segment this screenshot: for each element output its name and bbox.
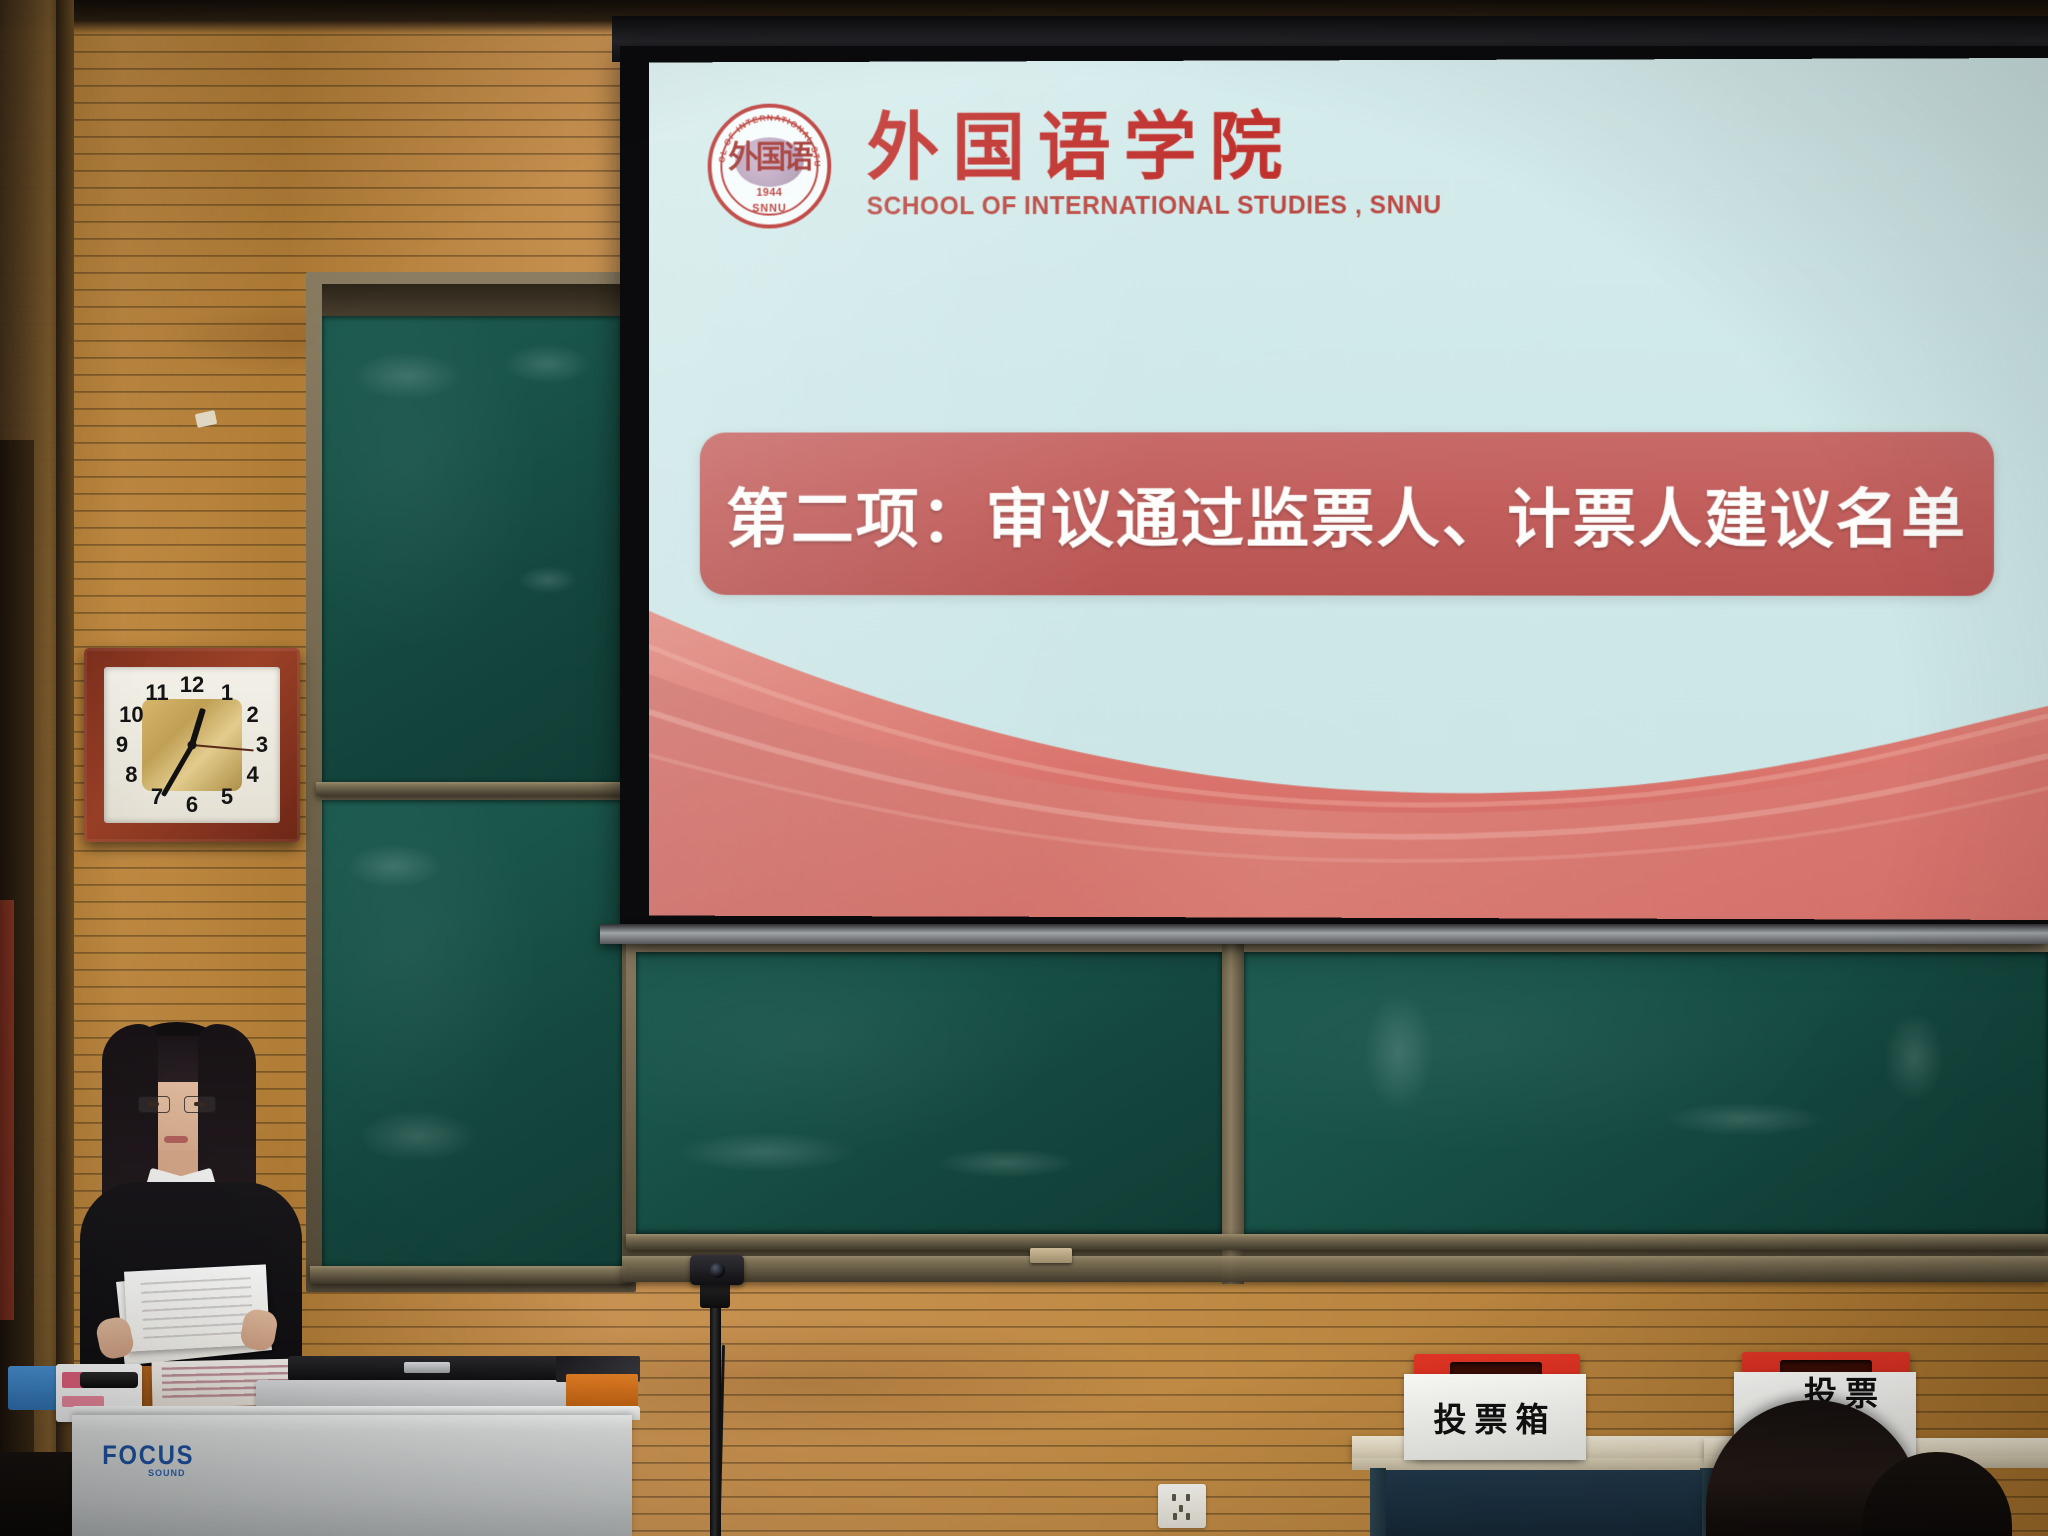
clock-numeral-10: 10 [119, 704, 143, 726]
chalkboard-panel-main-2 [1244, 952, 2048, 1234]
clock-numeral-11: 11 [145, 682, 168, 704]
crest-glyph: 外国语 [708, 131, 832, 176]
ballot-table-1-leg-left [1370, 1468, 1386, 1536]
tripod-head [700, 1282, 730, 1308]
clock-numeral-5: 5 [221, 786, 233, 808]
institution-title-cn: 外国语学院 [867, 109, 1442, 187]
chalkboard-panel-main-1 [636, 952, 1222, 1234]
clock-numeral-2: 2 [246, 704, 258, 726]
school-crest-icon: SCHOOL OF INTERNATIONAL STUDIES 外国语 1944… [708, 103, 832, 228]
presenter-glasses [138, 1096, 216, 1113]
clock-numeral-12: 12 [180, 674, 204, 696]
video-camera [690, 1255, 744, 1285]
chalkboard-ledge-bottom-left [310, 1266, 634, 1284]
classroom-scene: 121234567891011 [0, 0, 2048, 1536]
presenter-mouth [164, 1136, 188, 1143]
screen-bottom-bar[interactable] [600, 924, 2048, 944]
podium-brand-sublabel: SOUND [148, 1468, 186, 1478]
clock-numeral-3: 3 [256, 734, 268, 756]
agenda-banner: 第二项：审议通过监票人、计票人建议名单 [700, 432, 1994, 596]
slide-header: SCHOOL OF INTERNATIONAL STUDIES 外国语 1944… [708, 102, 1442, 229]
podium-device-orange [566, 1374, 638, 1410]
agenda-item-text: 第二项：审议通过监票人、计票人建议名单 [726, 468, 1967, 560]
clock-numeral-7: 7 [151, 786, 163, 808]
microphone-base [80, 1372, 138, 1388]
podium-control-led [404, 1362, 450, 1373]
power-outlet[interactable] [1158, 1484, 1206, 1528]
chalkboard-panel-lower-left [322, 800, 622, 1270]
camera-lens-icon [710, 1263, 725, 1278]
ballot-box-1-label-plate: 投票箱 [1404, 1374, 1586, 1460]
chalkboard-panel-upper-left [322, 316, 622, 786]
ballot-box-1-label: 投票箱 [1404, 1374, 1586, 1460]
clock-numeral-6: 6 [186, 794, 198, 816]
slide-wave-decoration [649, 589, 2048, 920]
chalk-eraser[interactable] [1030, 1248, 1072, 1263]
chalkboard-ledge-main [626, 1234, 2048, 1250]
clock-numeral-1: 1 [221, 682, 233, 704]
ballot-table-1-panel [1386, 1470, 1702, 1536]
institution-title-en: SCHOOL OF INTERNATIONAL STUDIES , SNNU [867, 191, 1442, 221]
clock-center-pin [188, 741, 197, 750]
projection-screen: SCHOOL OF INTERNATIONAL STUDIES 外国语 1944… [649, 58, 2048, 920]
chalkboard-tray-main [622, 1256, 2048, 1282]
clock-face: 121234567891011 [104, 667, 280, 823]
crest-year: 1944 [708, 187, 832, 199]
crest-abbrev: SNNU [708, 203, 832, 215]
chalkboard-ledge-mid-left [316, 782, 628, 796]
clock-numeral-9: 9 [116, 734, 128, 756]
podium-brand-label: FOCUS [102, 1440, 194, 1471]
wall-clock: 121234567891011 [84, 648, 300, 842]
chalkboard-track-left [322, 284, 622, 318]
clock-numeral-4: 4 [246, 764, 258, 786]
clock-numeral-8: 8 [125, 764, 137, 786]
door-jamb-accent [0, 900, 14, 1320]
chalkboard-mullion [1222, 940, 1244, 1284]
